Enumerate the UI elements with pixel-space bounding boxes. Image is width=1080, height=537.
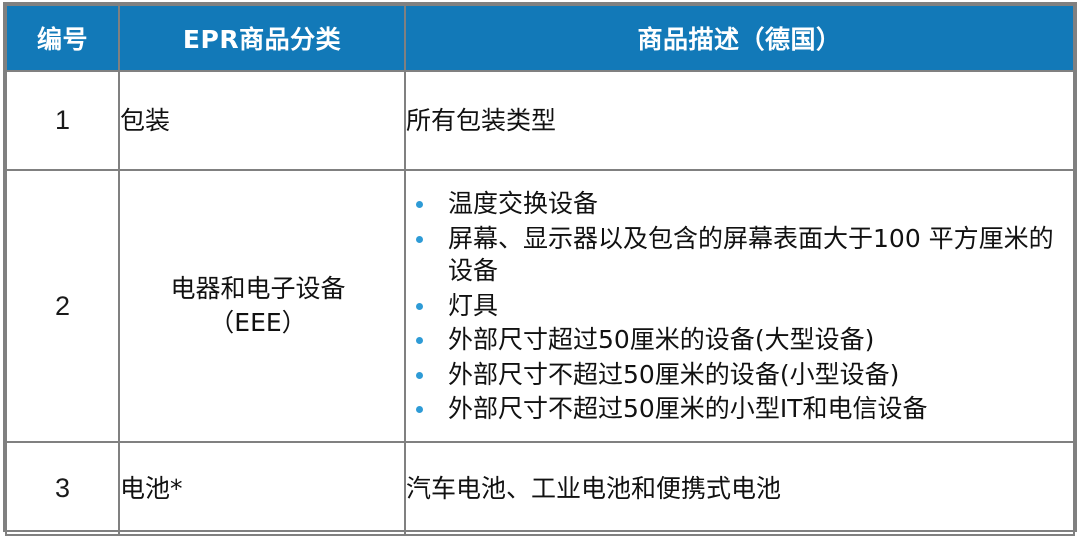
cell-description: 汽车电池、工业电池和便携式电池 [405,442,1074,535]
bullet-dot-icon [416,406,423,413]
list-item: 外部尺寸不超过50厘米的小型IT和电信设备 [406,393,1073,426]
cell-description: 所有包装类型 [405,71,1074,170]
description-text: 所有包装类型 [406,106,556,135]
bullet-dot-icon [416,337,423,344]
cell-category: 电池* [119,442,405,535]
description-bullet-list: 温度交换设备 屏幕、显示器以及包含的屏幕表面大于100 平方厘米的设备 灯具 [406,188,1073,426]
list-item-label: 外部尺寸超过50厘米的设备(大型设备) [448,325,874,354]
list-item: 灯具 [406,290,1073,323]
list-item-label: 外部尺寸不超过50厘米的设备(小型设备) [448,360,899,389]
bullet-dot-icon [416,201,423,208]
category-text-line1: 电器和电子设备 [120,272,396,306]
table-row: 2 电器和电子设备 （EEE） 温度交换设备 屏幕、显示器以及包含的屏幕表面大于… [6,170,1074,442]
cell-number: 2 [6,170,119,442]
list-item-label: 灯具 [448,291,498,320]
list-item: 屏幕、显示器以及包含的屏幕表面大于100 平方厘米的设备 [406,223,1073,288]
list-item-label: 外部尺寸不超过50厘米的小型IT和电信设备 [448,394,927,423]
column-header-description: 商品描述（德国） [405,5,1074,71]
table-body: 1 包装 所有包装类型 2 电器和电子设备 （EEE） [6,71,1074,535]
category-text-line2: （EEE） [120,306,396,340]
cell-number: 1 [6,71,119,170]
list-item-label: 屏幕、显示器以及包含的屏幕表面大于100 平方厘米的设备 [448,224,1054,286]
bullet-dot-icon [416,236,423,243]
description-text: 汽车电池、工业电池和便携式电池 [406,474,781,503]
table-row: 1 包装 所有包装类型 [6,71,1074,170]
cell-number: 3 [6,442,119,535]
cell-description: 温度交换设备 屏幕、显示器以及包含的屏幕表面大于100 平方厘米的设备 灯具 [405,170,1074,442]
list-item: 外部尺寸不超过50厘米的设备(小型设备) [406,359,1073,392]
cell-category: 包装 [119,71,405,170]
category-text: 包装 [120,104,404,138]
bullet-dot-icon [416,372,423,379]
cell-category: 电器和电子设备 （EEE） [119,170,405,442]
table-header-row: 编号 EPR商品分类 商品描述（德国） [6,5,1074,71]
column-header-category: EPR商品分类 [119,5,405,71]
epr-category-table: 编号 EPR商品分类 商品描述（德国） 1 包装 所有包装类型 2 电器和电子 [3,2,1077,532]
list-item-label: 温度交换设备 [448,189,598,218]
epr-table: 编号 EPR商品分类 商品描述（德国） 1 包装 所有包装类型 2 电器和电子 [5,4,1075,536]
bullet-dot-icon [416,303,423,310]
table-row: 3 电池* 汽车电池、工业电池和便携式电池 [6,442,1074,535]
column-header-number: 编号 [6,5,119,71]
list-item: 外部尺寸超过50厘米的设备(大型设备) [406,324,1073,357]
list-item: 温度交换设备 [406,188,1073,221]
table-header: 编号 EPR商品分类 商品描述（德国） [6,5,1074,71]
category-text: 电池* [120,472,404,506]
